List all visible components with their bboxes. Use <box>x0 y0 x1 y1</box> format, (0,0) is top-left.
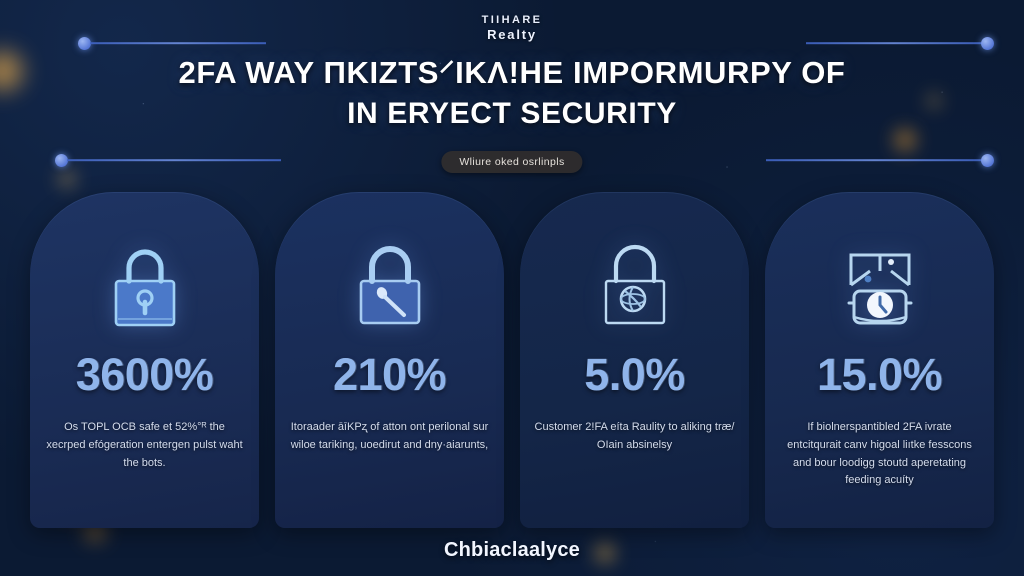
stat-description: Itoraader āīKPʐ of atton ont perilonal s… <box>290 419 490 455</box>
divider-line <box>806 42 982 44</box>
divider-dot-icon <box>981 154 994 167</box>
stat-card-2[interactable]: 210% Itoraader āīKPʐ of atton ont perilo… <box>275 192 504 528</box>
padlock-keyhole-icon <box>93 226 197 348</box>
divider-rule-top-right <box>794 42 994 44</box>
divider-rule-bottom-right <box>754 159 994 161</box>
stat-description: Os TOPL OCB safe et 52%°ᴿ the xecrped ef… <box>45 419 245 472</box>
divider-rule-top-left <box>78 42 278 44</box>
footer-block: Chbiaclaalyce <box>0 539 1024 562</box>
stat-card-3[interactable]: 5.0% Customer 2!FA eíta Raulity to aliki… <box>520 192 749 528</box>
divider-rule-bottom-left <box>55 159 293 161</box>
divider-line <box>67 159 281 161</box>
brand-line-2: Realty <box>0 27 1024 42</box>
title-line-1: 2FA WAY ΠKΙZTS⸍IKΛ!HE IMPORΜURРY OF <box>0 52 1024 94</box>
page-title: 2FA WAY ΠKΙZTS⸍IKΛ!HE IMPORΜURРY OF IN E… <box>0 52 1024 134</box>
stat-card-row: 3600% Os TOPL OCB safe et 52%°ᴿ the xecr… <box>30 192 994 528</box>
stat-value: 5.0% <box>584 352 685 397</box>
open-padlock-clock-icon <box>825 226 935 348</box>
padlock-key-icon <box>338 226 442 348</box>
infographic-poster: TIIHARE Realty 2FA WAY ΠKΙZTS⸍IKΛ!HE IMP… <box>0 0 1024 576</box>
divider-line <box>766 159 982 161</box>
title-line-2: IN ERYECT SECURITY <box>0 94 1024 135</box>
stat-value: 210% <box>333 352 446 397</box>
brand-block: TIIHARE Realty <box>0 14 1024 42</box>
stat-card-1[interactable]: 3600% Os TOPL OCB safe et 52%°ᴿ the xecr… <box>30 192 259 528</box>
stat-description: Customer 2!FA eíta Raulity to aliking tr… <box>535 419 735 455</box>
stat-card-4[interactable]: 15.0% If biolnerspantibled 2FA ivrate en… <box>765 192 994 528</box>
stat-value: 3600% <box>76 352 214 397</box>
stat-value: 15.0% <box>817 352 942 397</box>
divider-line <box>90 42 266 44</box>
subtitle-badge: Wliure oked osrlinpls <box>441 151 582 173</box>
stat-description: If biolnerspantibled 2FA ivrate entcitqu… <box>780 419 980 490</box>
footer-wordmark: Chbiaclaalyce <box>444 539 580 561</box>
padlock-globe-icon <box>583 226 687 348</box>
brand-line-1: TIIHARE <box>0 14 1024 27</box>
